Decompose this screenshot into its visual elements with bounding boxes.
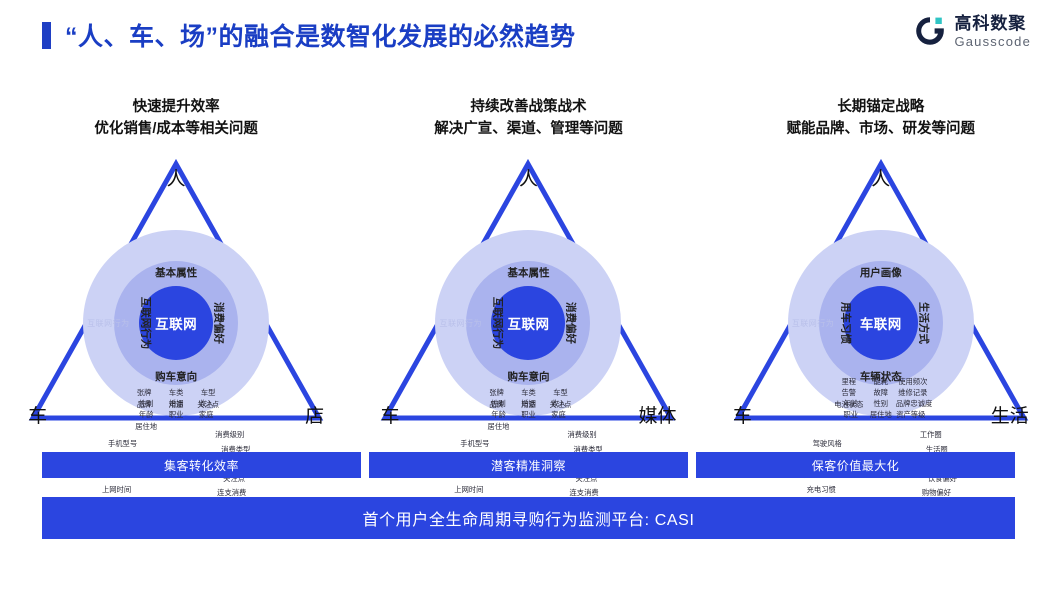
concentric-rings: 互联网 互联网行为 基本属性 购车意向 互联网行为 消费偏好 性别婚姻收入 年龄…: [83, 230, 269, 416]
gausscode-logo-icon: [913, 14, 947, 48]
vertex-right-label: 媒体: [638, 407, 676, 426]
caption-bar-1: 集客转化效率: [42, 452, 361, 478]
column-2-heading-line2: 解决广宣、渠道、管理等问题: [352, 118, 704, 140]
ring-label-bottom: 购车意向: [507, 372, 549, 383]
ring-label-bottom: 购车意向: [155, 372, 197, 383]
page-title-text: “人、车、场”的融合是数智化发展的必然趋势: [65, 17, 576, 53]
ring-label-top: 用户画像: [860, 268, 902, 279]
caption-bars: 集客转化效率 潜客精准洞察 保客价值最大化: [42, 452, 1015, 478]
concentric-rings: 互联网 互联网行为 基本属性 购车意向 互联网行为 消费偏好 性别婚姻收入 年龄…: [435, 230, 621, 416]
vertex-top-label: 人: [167, 170, 186, 189]
vertex-top-label: 人: [871, 170, 890, 189]
column-2-heading-line1: 持续改善战策战术: [352, 96, 704, 118]
watermark-text: 互联网行为: [87, 318, 130, 329]
attrs-bottom: 张牌车类车型 品牌用途关注点: [480, 387, 576, 410]
vertex-right-label: 生活: [991, 407, 1029, 426]
caption-bar-3: 保客价值最大化: [696, 452, 1015, 478]
ring-label-top: 基本属性: [507, 268, 549, 279]
column-2-heading: 持续改善战策战术 解决广宣、渠道、管理等问题: [352, 96, 704, 141]
ring-label-right: 消费偏好: [213, 302, 224, 344]
brand-name-cn: 高科数聚: [954, 15, 1031, 32]
column-1-heading-line2: 优化销售/成本等相关问题: [0, 118, 352, 140]
vertex-left-label: 车: [28, 407, 47, 426]
ring-label-left: 用车习惯: [840, 302, 851, 344]
column-3-heading-line1: 长期锚定战略: [705, 96, 1057, 118]
brand-name-en: Gausscode: [954, 35, 1031, 48]
column-2-triangle: 人 车 媒体 互联网 互联网行为 基本属性 购车意向 互联网行为 消费偏好 性别…: [378, 150, 678, 428]
column-3-heading: 长期锚定战略 赋能品牌、市场、研发等问题: [705, 96, 1057, 141]
brand-wordmark: 高科数聚 Gausscode: [954, 15, 1031, 48]
column-3: 长期锚定战略 赋能品牌、市场、研发等问题 人 车 生活 车联网 互联网行为 用户…: [705, 88, 1057, 448]
column-1: 快速提升效率 优化销售/成本等相关问题 人 车 店 互联网 互联网行为 基本属性…: [0, 88, 352, 448]
vertex-left-label: 车: [380, 407, 399, 426]
vertex-top-label: 人: [519, 170, 538, 189]
ring-core-label: 车联网: [844, 286, 918, 360]
ring-label-top: 基本属性: [155, 268, 197, 279]
ring-label-right: 生活方式: [918, 302, 929, 344]
column-1-triangle: 人 车 店 互联网 互联网行为 基本属性 购车意向 互联网行为 消费偏好 性别婚…: [26, 150, 326, 428]
ring-label-right: 消费偏好: [565, 302, 576, 344]
concentric-rings: 车联网 互联网行为 用户画像 车辆状态 用车习惯 生活方式 年龄性别品牌忠诚度 …: [788, 230, 974, 416]
caption-bar-2: 潜客精准洞察: [369, 452, 688, 478]
diagram-columns: 快速提升效率 优化销售/成本等相关问题 人 车 店 互联网 互联网行为 基本属性…: [0, 88, 1057, 448]
watermark-text: 互联网行为: [792, 318, 835, 329]
ring-label-left: 互联网行为: [492, 297, 503, 350]
column-1-heading-line1: 快速提升效率: [0, 96, 352, 118]
slide-header: “人、车、场”的融合是数智化发展的必然趋势 高科数聚 Gausscode: [0, 0, 1057, 70]
column-1-heading: 快速提升效率 优化销售/成本等相关问题: [0, 96, 352, 141]
brand-logo: 高科数聚 Gausscode: [913, 14, 1031, 48]
column-3-triangle: 人 车 生活 车联网 互联网行为 用户画像 车辆状态 用车习惯 生活方式 年龄性…: [731, 150, 1031, 428]
title-accent-bar: [42, 22, 51, 49]
column-3-heading-line2: 赋能品牌、市场、研发等问题: [705, 118, 1057, 140]
vertex-left-label: 车: [733, 407, 752, 426]
attrs-bottom: 里程能耗使用频次 告警故障维修记录 电池状态: [833, 376, 929, 410]
vertex-right-label: 店: [305, 407, 324, 426]
column-2: 持续改善战策战术 解决广宣、渠道、管理等问题 人 车 媒体 互联网 互联网行为 …: [352, 88, 704, 448]
attrs-bottom: 张牌车类车型 品牌用途关注点: [128, 387, 224, 410]
footer-banner: 首个用户全生命周期寻购行为监测平台: CASI: [42, 497, 1015, 539]
ring-label-left: 互联网行为: [140, 297, 151, 350]
page-title: “人、车、场”的融合是数智化发展的必然趋势: [42, 17, 576, 53]
watermark-text: 互联网行为: [439, 318, 482, 329]
